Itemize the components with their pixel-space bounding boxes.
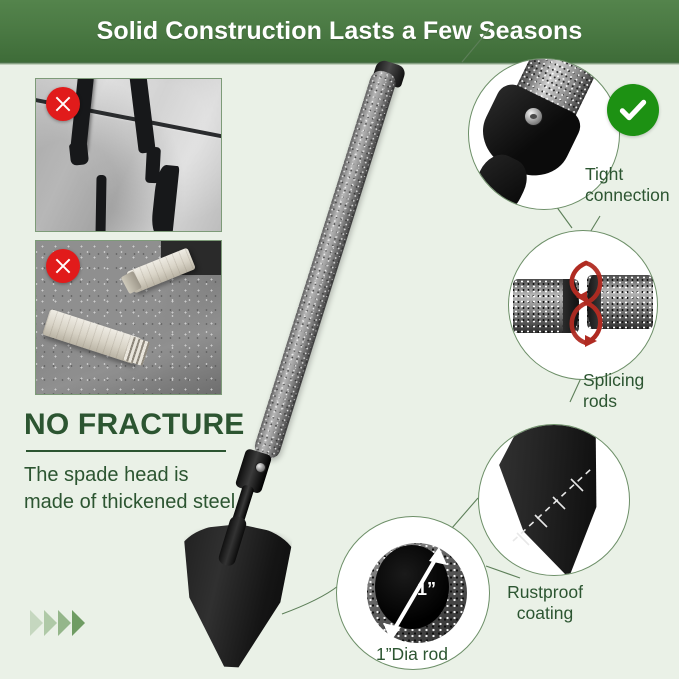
broken-handle-piece [95,175,106,232]
page-title: Solid Construction Lasts a Few Seasons [97,17,583,46]
headline-divider [26,450,226,452]
chevron-right-icon [44,610,57,636]
spade-blade [171,521,298,673]
x-icon [52,93,74,115]
screw-icon [524,107,543,126]
x-mark-badge [46,87,80,121]
callout-splicing-rods [508,230,658,380]
label-line-1: Splicing [583,370,675,391]
callout-label-tight-connection: Tight connection [585,164,677,205]
broken-black-handles-photo [35,78,222,232]
chevron-right-icon [72,610,85,636]
rotation-arrow-icon [565,249,607,357]
callout-label-rustproof-coating: Rustproof coating [480,582,610,623]
chevron-decoration [30,610,85,636]
no-fracture-headline: NO FRACTURE [24,408,245,442]
infographic-root: Solid Construction Lasts a Few Seasons [0,0,679,679]
rivet-ferrule [235,448,273,494]
broken-wooden-handles-photo [35,240,222,395]
rivet-screw [255,462,266,473]
spade-head-description: The spade head is made of thickened stee… [24,462,239,516]
diameter-value: 1” [417,579,436,600]
callout-label-splicing-rods: Splicing rods [583,370,675,411]
blade-socket-rib [217,515,248,568]
label-line-2: rods [583,391,675,412]
shaft-texture [252,68,398,461]
x-mark-badge [46,249,80,283]
label-line-1: Rustproof [480,582,610,603]
label-line-2: coating [480,603,610,624]
label-line-1: Tight [585,164,677,185]
dashed-measure-icon [507,455,607,555]
callout-label-dia-rod: 1”Dia rod [330,644,494,665]
textured-shaft [252,68,398,461]
callout-rustproof-coating [478,424,630,576]
chevron-right-icon [30,610,43,636]
check-mark-badge [607,84,659,136]
header-banner: Solid Construction Lasts a Few Seasons [0,0,679,62]
label-line-2: connection [585,185,677,206]
chevron-right-icon [58,610,71,636]
check-icon [616,93,650,127]
x-icon [52,255,74,277]
label-line-1: 1”Dia rod [330,644,494,665]
broken-handle-piece [69,142,89,166]
